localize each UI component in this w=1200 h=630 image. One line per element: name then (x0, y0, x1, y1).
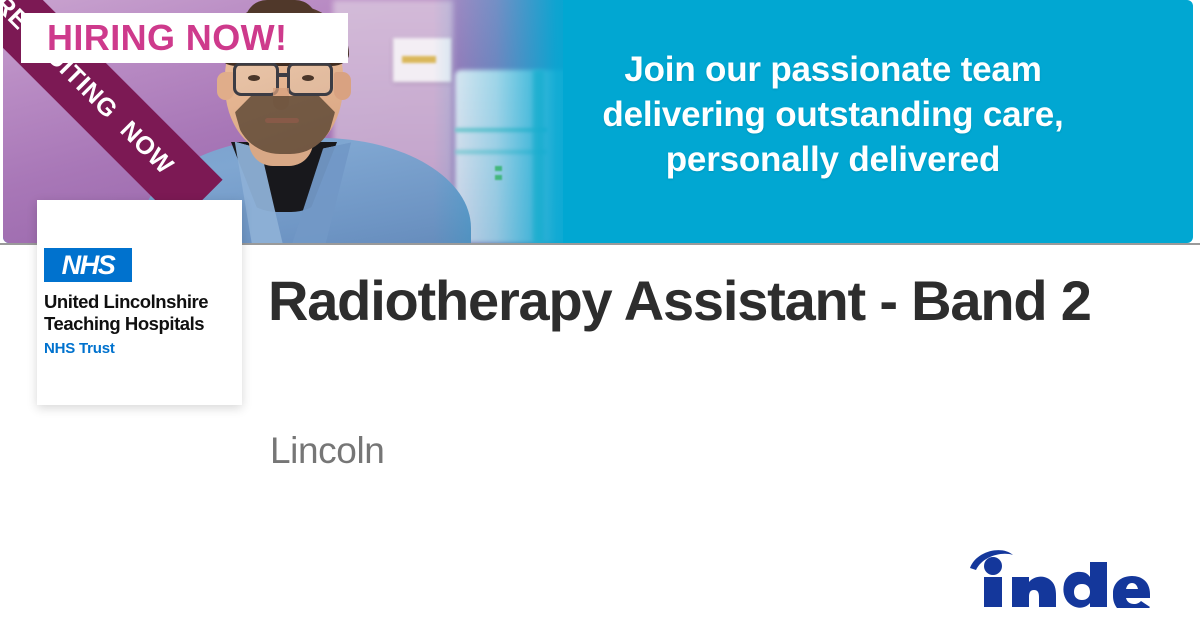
indeed-logo (960, 544, 1178, 608)
employer-name-line-2: Teaching Hospitals (44, 313, 242, 334)
job-location: Lincoln (270, 430, 384, 472)
employer-logo-card: NHS United Lincolnshire Teaching Hospita… (37, 200, 242, 405)
nhs-badge-text: NHS (62, 250, 115, 281)
job-share-card: Join our passionate team delivering outs… (0, 0, 1200, 630)
eye-right (302, 75, 314, 81)
hero-tagline: Join our passionate team delivering outs… (523, 48, 1143, 182)
nhs-logo-badge: NHS (44, 248, 132, 282)
eye-left (248, 75, 260, 81)
employer-name-line-1: United Lincolnshire (44, 291, 242, 312)
ear-right (334, 72, 351, 100)
ear-left (217, 72, 234, 100)
job-title: Radiotherapy Assistant - Band 2 (268, 265, 1148, 337)
hero-tagline-line-3: personally delivered (523, 138, 1143, 183)
hiring-now-label: HIRING NOW! (21, 13, 348, 63)
hiring-now-text: HIRING NOW! (47, 17, 287, 59)
employer-trust-label: NHS Trust (44, 340, 242, 357)
mouth (265, 118, 299, 123)
hero-tagline-line-2: delivering outstanding care, (523, 93, 1143, 138)
indeed-wordmark-icon (960, 546, 1178, 608)
glasses-bridge (278, 73, 289, 77)
hero-tagline-line-1: Join our passionate team (523, 48, 1143, 93)
